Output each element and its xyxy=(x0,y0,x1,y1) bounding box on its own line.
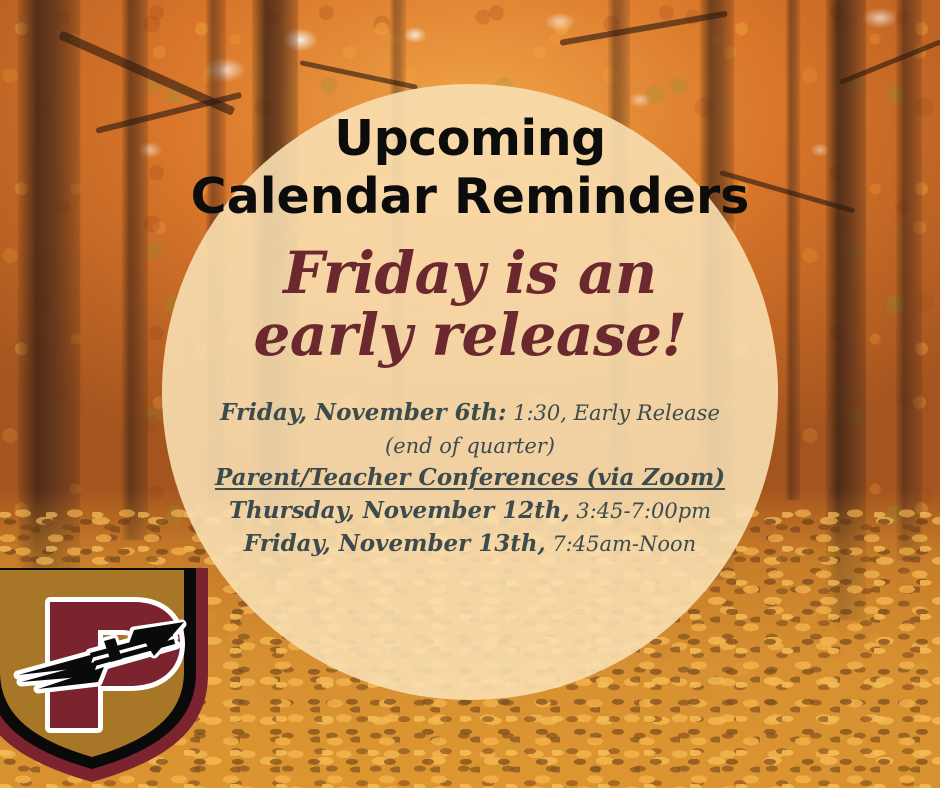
tree-trunk xyxy=(786,0,800,500)
detail-date-nov13: Friday, November 13th, xyxy=(244,530,546,557)
page-title: Upcoming Calendar Reminders xyxy=(162,84,778,226)
detail-row-nov12: Thursday, November 12th, 3:45-7:00pm xyxy=(190,495,750,528)
detail-date-nov12: Thursday, November 12th, xyxy=(229,497,570,524)
tree-trunk xyxy=(122,0,148,540)
detail-date-nov6: Friday, November 6th: xyxy=(220,399,506,426)
slogan-line-2: early release! xyxy=(254,301,687,369)
detail-time-nov12: 3:45-7:00pm xyxy=(570,499,711,523)
school-shield-logo xyxy=(0,568,226,786)
headline-line-1: Upcoming xyxy=(334,110,605,167)
detail-note-quarter: (end of quarter) xyxy=(385,434,555,458)
event-details: Friday, November 6th: 1:30, Early Releas… xyxy=(190,397,750,560)
poster-content: Upcoming Calendar Reminders Friday is an… xyxy=(162,84,778,700)
detail-row-early-release: Friday, November 6th: 1:30, Early Releas… xyxy=(190,397,750,430)
tree-trunk xyxy=(896,0,922,560)
headline-line-2: Calendar Reminders xyxy=(191,168,750,225)
poster-image: Upcoming Calendar Reminders Friday is an… xyxy=(0,0,940,788)
slogan-line-1: Friday is an xyxy=(283,239,656,307)
detail-time-nov6: 1:30, Early Release xyxy=(506,401,719,425)
detail-row-end-of-quarter: (end of quarter) xyxy=(190,430,750,463)
detail-row-nov13: Friday, November 13th, 7:45am-Noon xyxy=(190,528,750,561)
detail-row-conferences-header: Parent/Teacher Conferences (via Zoom) xyxy=(190,462,750,495)
detail-conferences-heading: Parent/Teacher Conferences (via Zoom) xyxy=(215,464,725,491)
slogan: Friday is an early release! xyxy=(162,242,778,367)
detail-time-nov13: 7:45am-Noon xyxy=(546,532,697,556)
